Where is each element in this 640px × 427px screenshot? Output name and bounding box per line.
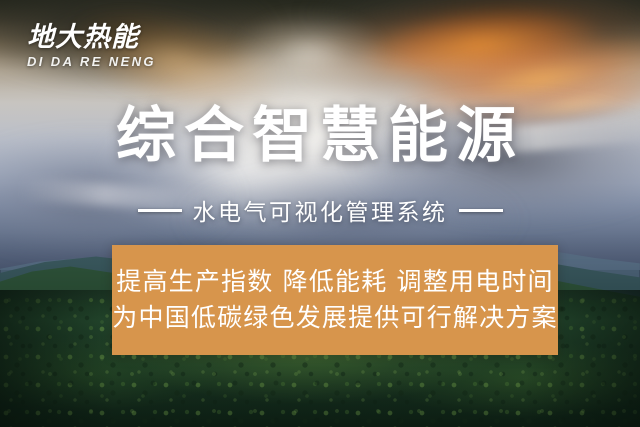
highlight-panel-line-2: 为中国低碳绿色发展提供可行解决方案	[112, 304, 557, 333]
hero-title: 综合智慧能源	[0, 104, 640, 169]
hero-subtitle-row: 水电气可视化管理系统	[0, 193, 640, 227]
subtitle-dash-right-icon	[459, 209, 503, 212]
brand-logo-chinese: 地大热能	[27, 24, 156, 52]
subtitle-dash-left-icon	[138, 209, 182, 212]
poster-banner: 地大热能 DI DA RE NENG 综合智慧能源 水电气可视化管理系统 提高生…	[0, 0, 640, 427]
highlight-panel: 提高生产指数 降低能耗 调整用电时间 为中国低碳绿色发展提供可行解决方案	[112, 245, 558, 355]
highlight-panel-line-1: 提高生产指数 降低能耗 调整用电时间	[116, 268, 554, 297]
brand-logo-pinyin: DI DA RE NENG	[27, 54, 156, 69]
hero-subtitle: 水电气可视化管理系统	[193, 193, 448, 227]
brand-logo: 地大热能 DI DA RE NENG	[27, 24, 156, 69]
